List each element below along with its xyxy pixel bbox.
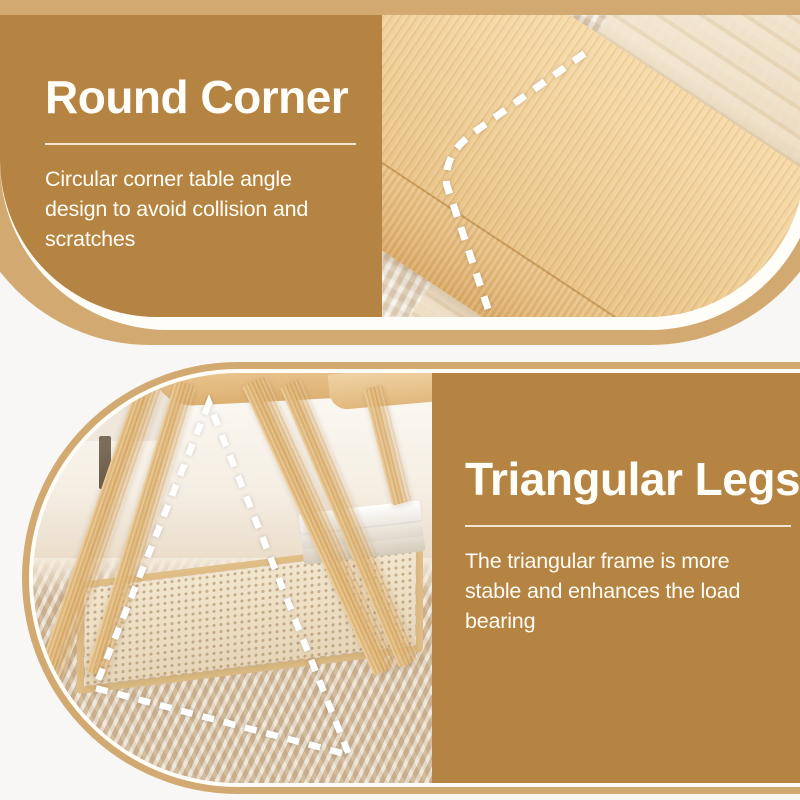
round-corner-divider: [45, 143, 356, 145]
top-card-content: Round Corner Circular corner table angle…: [0, 15, 800, 317]
round-corner-description: Circular corner table angle design to av…: [45, 165, 345, 254]
top-card-white-frame: Round Corner Circular corner table angle…: [0, 15, 800, 330]
feature-card-round-corner: Round Corner Circular corner table angle…: [0, 0, 800, 345]
triangular-legs-title: Triangular Legs: [465, 455, 800, 503]
triangular-legs-divider: [465, 525, 791, 527]
bottom-card-content: Triangular Legs The triangular frame is …: [33, 373, 800, 783]
round-corner-title: Round Corner: [45, 73, 382, 121]
feature-card-triangular-legs: Triangular Legs The triangular frame is …: [22, 362, 800, 794]
round-corner-text-panel: Round Corner Circular corner table angle…: [0, 15, 382, 317]
tabletop-edge-band: [382, 117, 749, 317]
triangular-legs-photo: [33, 373, 432, 783]
triangular-legs-description: The triangular frame is more stable and …: [465, 547, 755, 636]
triangular-legs-text-panel: Triangular Legs The triangular frame is …: [432, 373, 800, 783]
round-corner-photo: [382, 15, 800, 317]
bottom-card-white-frame: Triangular Legs The triangular frame is …: [29, 369, 800, 787]
